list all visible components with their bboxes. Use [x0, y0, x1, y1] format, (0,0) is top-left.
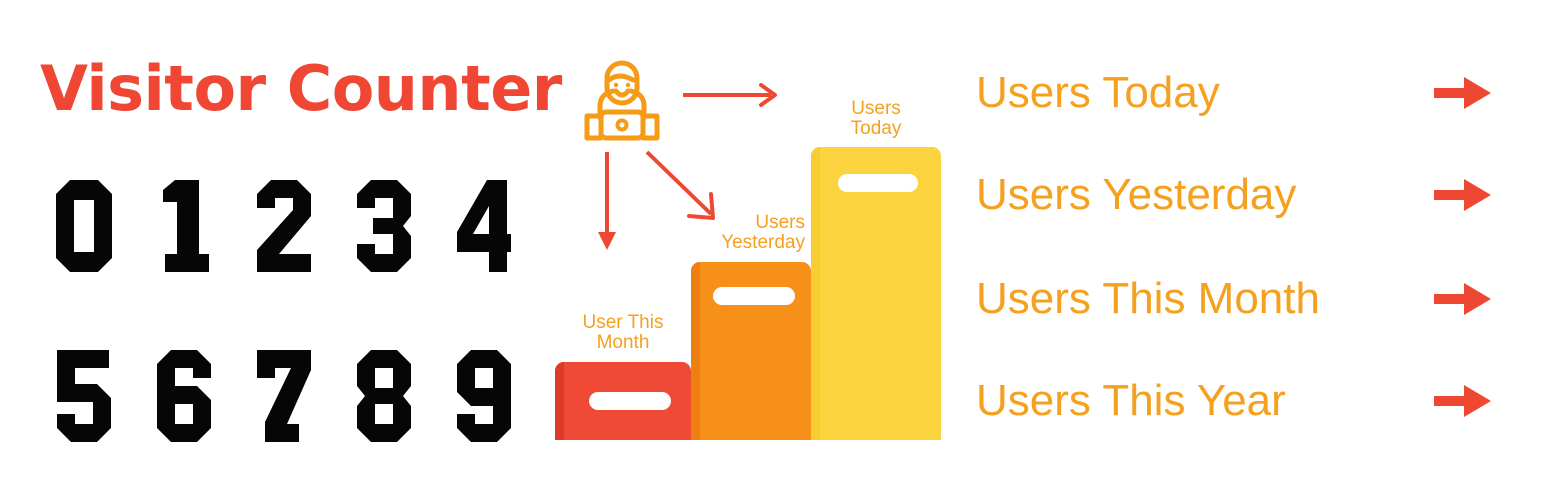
digit-glyph-3	[357, 180, 411, 272]
digit-glyph-1	[159, 180, 209, 272]
digit-glyph-6	[157, 350, 211, 442]
bar-pill	[713, 287, 795, 305]
visitor-counter-graphic: Visitor Counter	[0, 0, 1544, 500]
digit-3	[334, 180, 434, 272]
metric-label: Users This Year	[976, 379, 1286, 423]
metric-row-users-this-month[interactable]: Users This Month	[976, 270, 1516, 328]
bar-pill	[589, 392, 671, 410]
digit-0	[34, 180, 134, 272]
digit-row-top	[34, 180, 534, 272]
digit-glyph-8	[357, 350, 411, 442]
digit-5	[34, 350, 134, 442]
metric-list-panel: Users Today Users Yesterday Users This M…	[960, 0, 1544, 500]
metric-row-users-this-year[interactable]: Users This Year	[976, 372, 1516, 430]
arrow-right-icon	[683, 82, 783, 108]
bar-user-this-month[interactable]	[555, 362, 691, 440]
digit-9	[434, 350, 534, 442]
arrow-right-icon[interactable]	[1434, 383, 1492, 419]
digit-7	[234, 350, 334, 442]
digit-glyph-5	[57, 350, 111, 442]
person-at-laptop-icon	[573, 58, 671, 148]
metric-label: Users This Month	[976, 277, 1320, 321]
bar-left-edge	[691, 262, 700, 440]
bar-pill	[838, 174, 918, 192]
bar-chart-panel: User This Month Users Yesterday Users To…	[545, 0, 965, 500]
bar-left-edge	[555, 362, 564, 440]
digit-glyph-9	[457, 350, 511, 442]
metric-label: Users Today	[976, 71, 1220, 115]
arrow-right-icon[interactable]	[1434, 281, 1492, 317]
digit-2	[234, 180, 334, 272]
digit-4	[434, 180, 534, 272]
bar-label-users-yesterday: Users Yesterday	[675, 213, 805, 254]
digit-6	[134, 350, 234, 442]
bar-label-user-this-month: User This Month	[561, 313, 685, 354]
digit-row-bottom	[34, 350, 534, 442]
arrow-down-icon	[593, 152, 621, 252]
arrow-right-icon[interactable]	[1434, 75, 1492, 111]
digit-8	[334, 350, 434, 442]
bar-users-today[interactable]	[811, 147, 941, 440]
digit-glyph-7	[257, 350, 311, 442]
title-and-digits-panel: Visitor Counter	[0, 0, 550, 500]
metric-label: Users Yesterday	[976, 173, 1296, 217]
digit-glyph-2	[257, 180, 311, 272]
metric-row-users-yesterday[interactable]: Users Yesterday	[976, 166, 1516, 224]
page-title: Visitor Counter	[40, 58, 562, 120]
arrow-right-icon[interactable]	[1434, 177, 1492, 213]
digit-1	[134, 180, 234, 272]
digit-glyph-4	[457, 180, 511, 272]
bar-left-edge	[811, 147, 820, 440]
bar-label-users-today: Users Today	[813, 99, 939, 140]
bar-users-yesterday[interactable]	[691, 262, 811, 440]
digit-glyph-0	[56, 180, 112, 272]
metric-row-users-today[interactable]: Users Today	[976, 64, 1516, 122]
